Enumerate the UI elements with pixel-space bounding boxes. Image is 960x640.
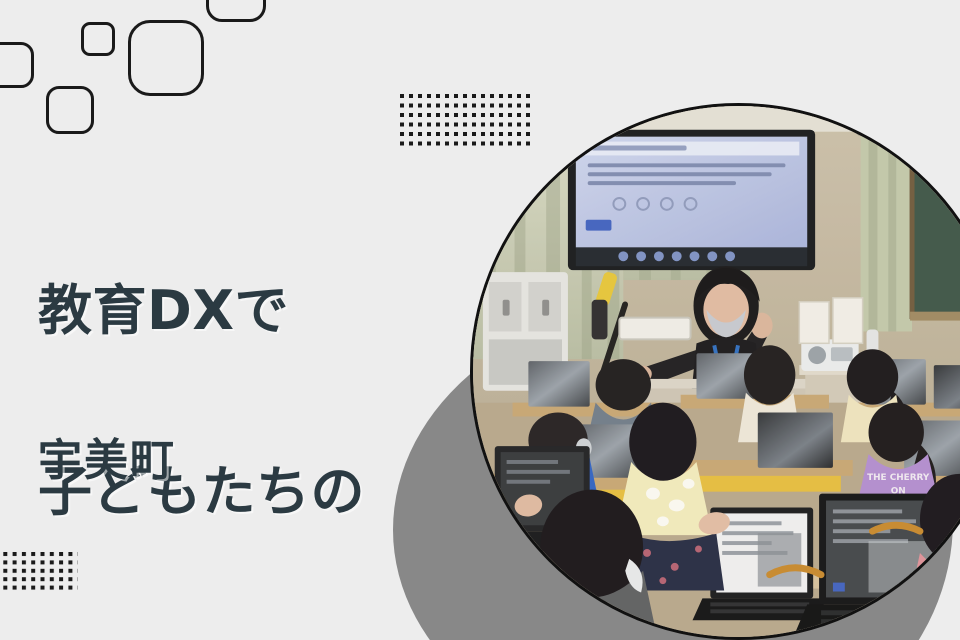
- classroom-photo-image: THE CHERRY ON: [473, 106, 960, 637]
- rounded-square-clipped-left: [0, 42, 34, 88]
- rounded-square-clipped-top: [206, 0, 266, 22]
- subtitle-town-name: 宇美町: [38, 424, 176, 488]
- banner-root: THE CHERRY ON: [0, 0, 960, 640]
- headline-line-1: 教育DXで: [38, 281, 420, 341]
- headline: 教育DXで 子どもたちの 未来をつくろう: [38, 160, 420, 640]
- rounded-square-tiny: [81, 22, 115, 56]
- classroom-photo: THE CHERRY ON: [470, 103, 960, 640]
- rounded-square-medium-left: [46, 86, 94, 134]
- rounded-square-large: [128, 20, 204, 96]
